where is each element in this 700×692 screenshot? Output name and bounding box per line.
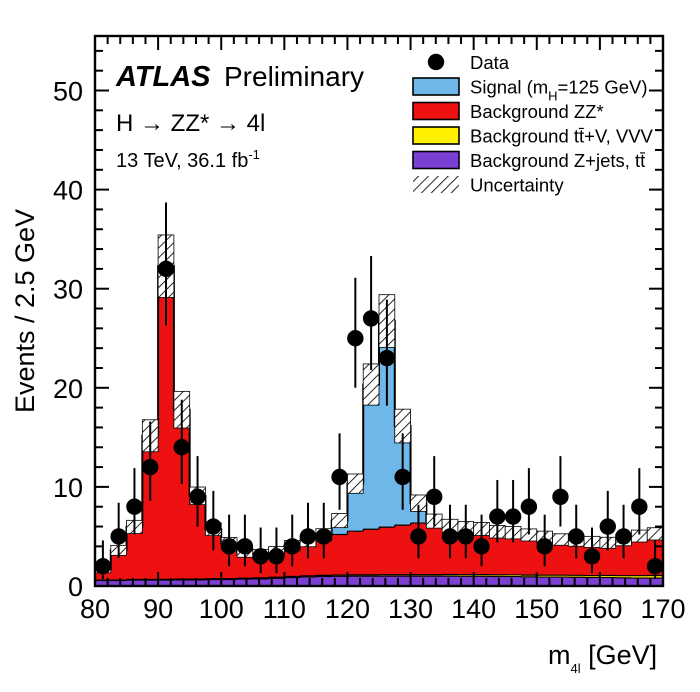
- data-marker: [521, 499, 537, 515]
- luminosity-text: 13 TeV, 36.1 fb: [116, 150, 248, 172]
- x-tick-label: 120: [325, 594, 370, 624]
- preliminary-text: Preliminary: [224, 61, 364, 92]
- legend-color-swatch: [413, 127, 459, 144]
- uncertainty-bin: [647, 528, 663, 540]
- chart-canvas: 809010011012013014015016017001020304050 …: [0, 0, 700, 692]
- data-marker: [158, 261, 174, 277]
- data-marker: [426, 489, 442, 505]
- x-tick-label: 170: [640, 594, 685, 624]
- legend-color-swatch: [413, 103, 459, 120]
- legend-color-swatch: [413, 78, 459, 95]
- data-marker: [363, 310, 379, 326]
- legend-label-text: Uncertainty: [470, 175, 564, 196]
- legend-label-part1: Signal (m: [470, 77, 548, 98]
- x-tick-label: 150: [514, 594, 559, 624]
- legend-color-swatch: [413, 152, 459, 169]
- legend-label-text: Background tt̄+V, VVV: [470, 126, 654, 147]
- legend-entry-uncertainty: Uncertainty: [413, 175, 564, 196]
- atlas-logo-text: ATLAS: [115, 61, 211, 93]
- data-marker: [126, 499, 142, 515]
- uncertainty-bin: [347, 474, 363, 493]
- x-tick-label: 140: [451, 594, 496, 624]
- legend-hatch-swatch: [413, 176, 459, 193]
- data-marker: [379, 350, 395, 366]
- uncertainty-bin: [332, 514, 348, 528]
- data-marker: [568, 528, 584, 544]
- data-marker: [536, 538, 552, 554]
- y-axis-title: Events / 2.5 GeV: [10, 209, 40, 413]
- data-marker: [300, 528, 316, 544]
- legend-label-text: Data: [470, 52, 510, 73]
- data-marker: [584, 548, 600, 564]
- decay-channel-label: H → ZZ* → 4l: [116, 110, 265, 137]
- data-marker: [142, 459, 158, 475]
- uncertainty-bin: [553, 534, 569, 545]
- uncertainty-bin: [363, 364, 379, 405]
- data-marker: [110, 528, 126, 544]
- legend-label-text: Background Z+jets, tt̄: [470, 150, 646, 171]
- data-marker: [631, 499, 647, 515]
- data-marker: [600, 518, 616, 534]
- x-tick-label: 90: [143, 594, 173, 624]
- data-marker: [442, 528, 458, 544]
- data-marker: [189, 489, 205, 505]
- data-marker: [458, 528, 474, 544]
- atlas-invariant-mass-plot: 809010011012013014015016017001020304050 …: [0, 0, 700, 692]
- y-tick-label: 10: [53, 473, 83, 503]
- legend-entry-background-z-jets-tt-: Background Z+jets, tt̄: [413, 150, 646, 171]
- legend-data-marker: [428, 54, 444, 70]
- data-marker: [505, 508, 521, 524]
- data-marker: [489, 508, 505, 524]
- legend-label-text: Background ZZ*: [470, 101, 604, 122]
- data-marker: [347, 330, 363, 346]
- x-tick-label: 100: [199, 594, 244, 624]
- y-tick-label: 30: [53, 275, 83, 305]
- y-tick-label: 0: [68, 572, 83, 602]
- data-marker: [394, 469, 410, 485]
- x-axis-unit: [GeV]: [581, 640, 658, 670]
- data-marker: [284, 538, 300, 554]
- data-marker: [174, 439, 190, 455]
- y-tick-label: 50: [53, 77, 83, 107]
- data-marker: [410, 528, 426, 544]
- data-marker: [552, 489, 568, 505]
- data-marker: [252, 548, 268, 564]
- x-axis-symbol: m: [548, 640, 571, 670]
- data-marker: [316, 528, 332, 544]
- x-tick-label: 80: [80, 594, 110, 624]
- data-marker: [473, 538, 489, 554]
- x-tick-label: 130: [388, 594, 433, 624]
- luminosity-label: 13 TeV, 36.1 fb-1: [116, 147, 260, 172]
- data-marker: [205, 518, 221, 534]
- legend-label-part2: =125 GeV): [558, 77, 648, 98]
- legend-entry-background-tt-v-vvv: Background tt̄+V, VVV: [413, 126, 654, 147]
- data-marker: [221, 538, 237, 554]
- y-tick-label: 40: [53, 176, 83, 206]
- y-tick-label: 20: [53, 374, 83, 404]
- x-tick-label: 160: [577, 594, 622, 624]
- data-marker: [331, 469, 347, 485]
- data-marker: [237, 538, 253, 554]
- luminosity-exponent: -1: [248, 147, 260, 162]
- x-tick-label: 110: [263, 594, 306, 624]
- x-axis-subscript: 4l: [571, 661, 581, 676]
- data-marker: [615, 528, 631, 544]
- data-marker: [268, 548, 284, 564]
- legend-entry-background-zz-: Background ZZ*: [413, 101, 604, 122]
